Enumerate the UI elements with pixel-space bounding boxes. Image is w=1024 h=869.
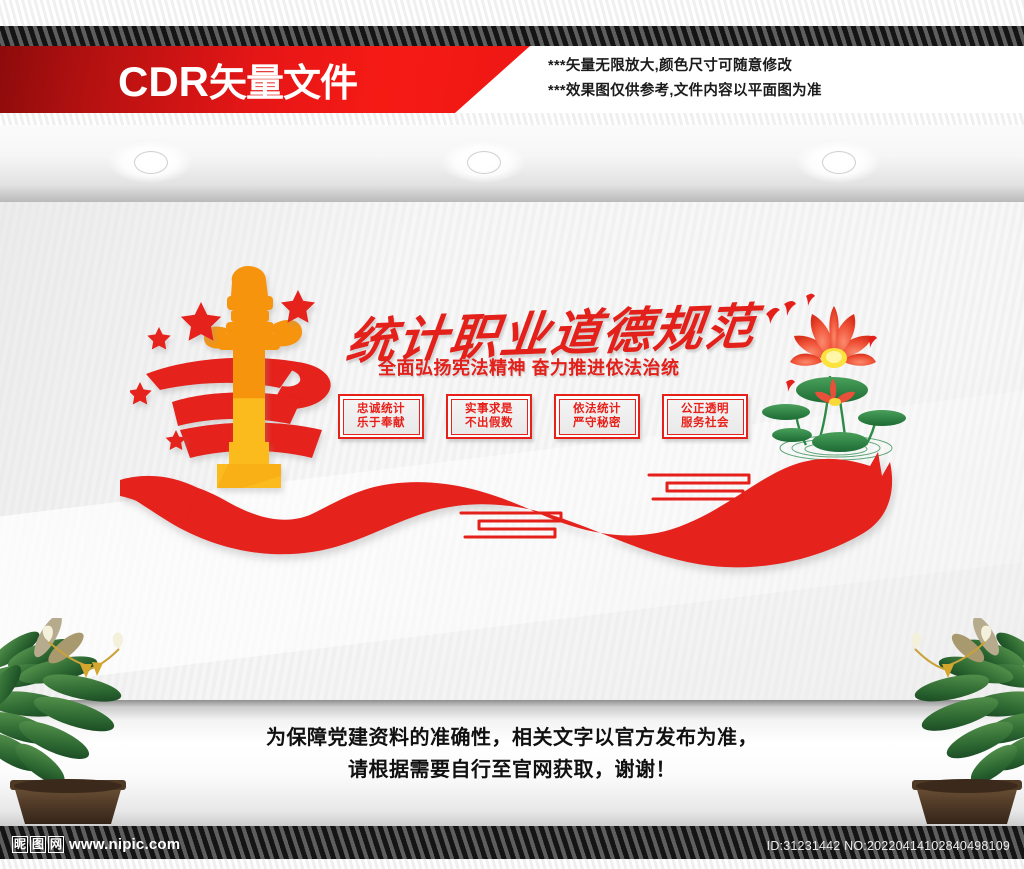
- ceiling-light-icon: [108, 141, 192, 183]
- nipic-char-3: 网: [48, 836, 64, 853]
- nipic-url[interactable]: www.nipic.com: [69, 836, 180, 853]
- slogan-line-2: 乐于奉献: [357, 417, 405, 430]
- slogan-line-1: 实事求是: [465, 403, 513, 416]
- cloud-line-icon: [645, 470, 755, 506]
- cdr-logo-cn: 矢量文件: [209, 63, 357, 105]
- header-note-line-1: ***矢量无限放大,颜色尺寸可随意修改: [548, 54, 1018, 79]
- page-subtitle: 全面弘扬宪法精神 奋力推进依法治统: [378, 354, 680, 380]
- nipic-char-1: 昵: [12, 836, 28, 853]
- plant-right-svg: [878, 618, 1024, 826]
- top-white-strip: [0, 0, 1024, 26]
- slogan-box-group: 忠诚统计 乐于奉献 实事求是 不出假数 依法统计 严守秘密 公正透明 服务社会: [338, 394, 748, 439]
- slogan-box[interactable]: 实事求是 不出假数: [446, 394, 532, 439]
- slogan-line-2: 不出假数: [465, 417, 513, 430]
- asset-id-label: ID:31231442 NO:20220414102840498109: [767, 839, 1010, 853]
- nipic-char-2: 图: [30, 836, 46, 853]
- potted-plant-left: [0, 618, 176, 826]
- poster-canvas: CDR矢量文件 ***矢量无限放大,颜色尺寸可随意修改 ***效果图仅供参考,文…: [0, 0, 1024, 869]
- slogan-line-1: 公正透明: [681, 403, 729, 416]
- nipic-logo-cn: 昵 图 网: [12, 836, 64, 853]
- cloud-line-icon: [457, 508, 567, 544]
- cdr-logo-en: CDR: [118, 58, 209, 105]
- header-notes: ***矢量无限放大,颜色尺寸可随意修改 ***效果图仅供参考,文件内容以平面图为…: [548, 54, 1018, 104]
- slogan-line-1: 依法统计: [573, 403, 621, 416]
- slogan-line-2: 服务社会: [681, 417, 729, 430]
- plant-leaves-icon: [0, 618, 123, 791]
- plant-pot-icon: [10, 779, 126, 824]
- slogan-line-1: 忠诚统计: [357, 403, 405, 416]
- slogan-box[interactable]: 公正透明 服务社会: [662, 394, 748, 439]
- slogan-box[interactable]: 依法统计 严守秘密: [554, 394, 640, 439]
- slogan-box-inner: 实事求是 不出假数: [451, 399, 528, 435]
- plant-leaves-icon: [913, 618, 1024, 790]
- slogan-box-inner: 公正透明 服务社会: [667, 399, 744, 435]
- potted-plant-right: [878, 618, 1024, 826]
- slogan-box[interactable]: 忠诚统计 乐于奉献: [338, 394, 424, 439]
- slogan-line-2: 严守秘密: [573, 417, 621, 430]
- bottom-white-strip: [0, 859, 1024, 869]
- header-note-line-2: ***效果图仅供参考,文件内容以平面图为准: [548, 79, 1018, 104]
- ceiling-light-icon: [441, 141, 525, 183]
- plant-left-svg: [0, 618, 176, 826]
- slogan-box-inner: 依法统计 严守秘密: [559, 399, 636, 435]
- nipic-logo[interactable]: 昵 图 网 www.nipic.com: [12, 836, 180, 853]
- plant-pot-icon: [912, 779, 1022, 824]
- cdr-logo: CDR矢量文件: [118, 50, 357, 116]
- slogan-box-inner: 忠诚统计 乐于奉献: [343, 399, 420, 435]
- header-bottom-white-strip: [0, 113, 1024, 125]
- ceiling: [0, 125, 1024, 202]
- lotus-flower-icon: [790, 306, 876, 368]
- ceiling-light-icon: [796, 141, 880, 183]
